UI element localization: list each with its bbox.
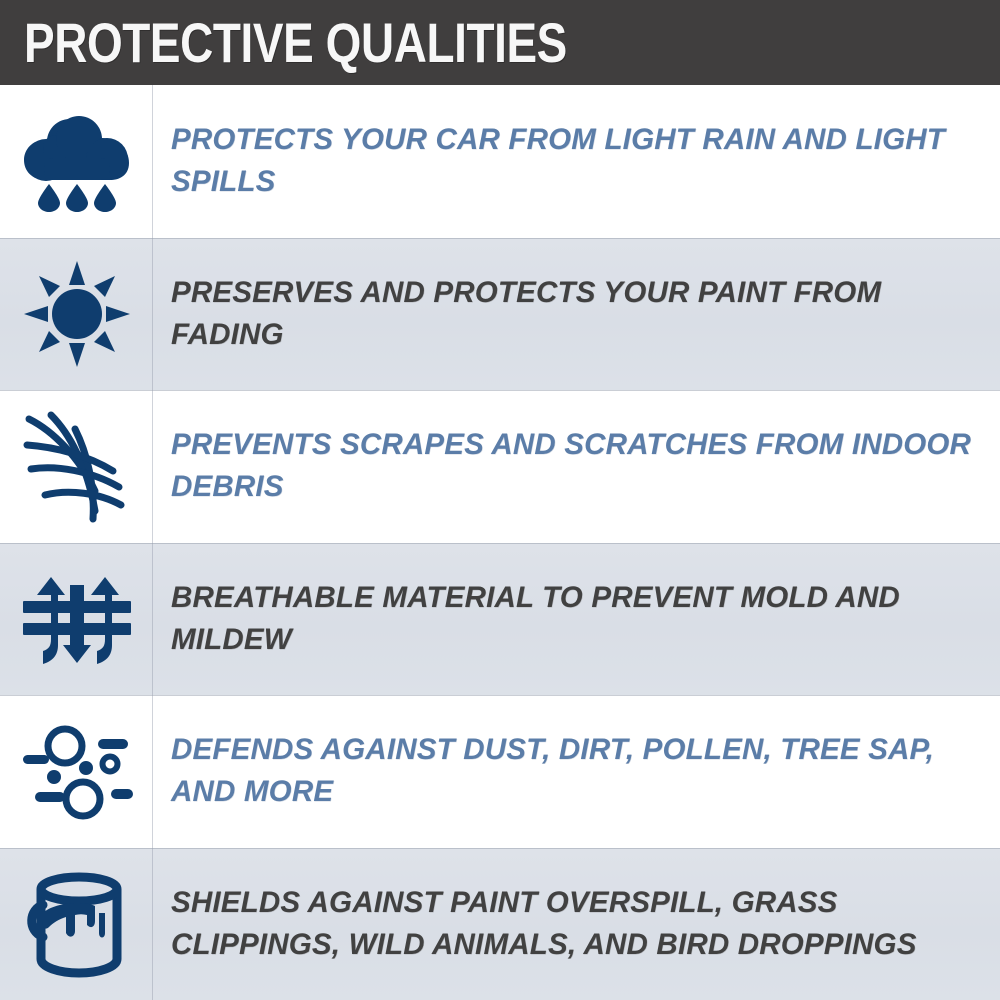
text-cell: SHIELDS AGAINST PAINT OVERSPILL, GRASS C… [153, 848, 1000, 1000]
text-cell: PROTECTS YOUR CAR FROM LIGHT RAIN AND LI… [153, 85, 1000, 238]
text-cell: PREVENTS SCRAPES AND SCRATCHES FROM INDO… [153, 390, 1000, 543]
dust-particles-icon [19, 721, 135, 821]
icon-cell [0, 238, 153, 391]
feature-text: DEFENDS AGAINST DUST, DIRT, POLLEN, TREE… [171, 729, 974, 813]
page-title: PROTECTIVE QUALITIES [24, 15, 567, 71]
icon-cell [0, 848, 153, 1000]
header-bar: PROTECTIVE QUALITIES [0, 0, 1000, 85]
feature-text: PREVENTS SCRAPES AND SCRATCHES FROM INDO… [171, 424, 974, 508]
text-cell: PRESERVES AND PROTECTS YOUR PAINT FROM F… [153, 238, 1000, 391]
feature-text: SHIELDS AGAINST PAINT OVERSPILL, GRASS C… [171, 882, 974, 966]
feature-row: PRESERVES AND PROTECTS YOUR PAINT FROM F… [0, 238, 1000, 391]
text-cell: DEFENDS AGAINST DUST, DIRT, POLLEN, TREE… [153, 695, 1000, 848]
icon-cell [0, 543, 153, 696]
protective-qualities-infographic: PROTECTIVE QUALITIES [0, 0, 1000, 1000]
icon-cell [0, 390, 153, 543]
sun-icon [22, 259, 132, 369]
icon-cell [0, 85, 153, 238]
breathable-airflow-icon [21, 567, 133, 671]
feature-row: BREATHABLE MATERIAL TO PREVENT MOLD AND … [0, 543, 1000, 696]
icon-cell [0, 695, 153, 848]
feature-text: BREATHABLE MATERIAL TO PREVENT MOLD AND … [171, 577, 974, 661]
rain-cloud-icon [22, 108, 132, 214]
mesh-scratch-icon [21, 407, 133, 525]
feature-row: DEFENDS AGAINST DUST, DIRT, POLLEN, TREE… [0, 695, 1000, 848]
text-cell: BREATHABLE MATERIAL TO PREVENT MOLD AND … [153, 543, 1000, 696]
feature-row: PROTECTS YOUR CAR FROM LIGHT RAIN AND LI… [0, 85, 1000, 238]
feature-list: PROTECTS YOUR CAR FROM LIGHT RAIN AND LI… [0, 85, 1000, 1000]
feature-row: SHIELDS AGAINST PAINT OVERSPILL, GRASS C… [0, 848, 1000, 1000]
feature-text: PRESERVES AND PROTECTS YOUR PAINT FROM F… [171, 272, 974, 356]
feature-text: PROTECTS YOUR CAR FROM LIGHT RAIN AND LI… [171, 119, 974, 203]
paint-can-icon [21, 869, 133, 979]
feature-row: PREVENTS SCRAPES AND SCRATCHES FROM INDO… [0, 390, 1000, 543]
